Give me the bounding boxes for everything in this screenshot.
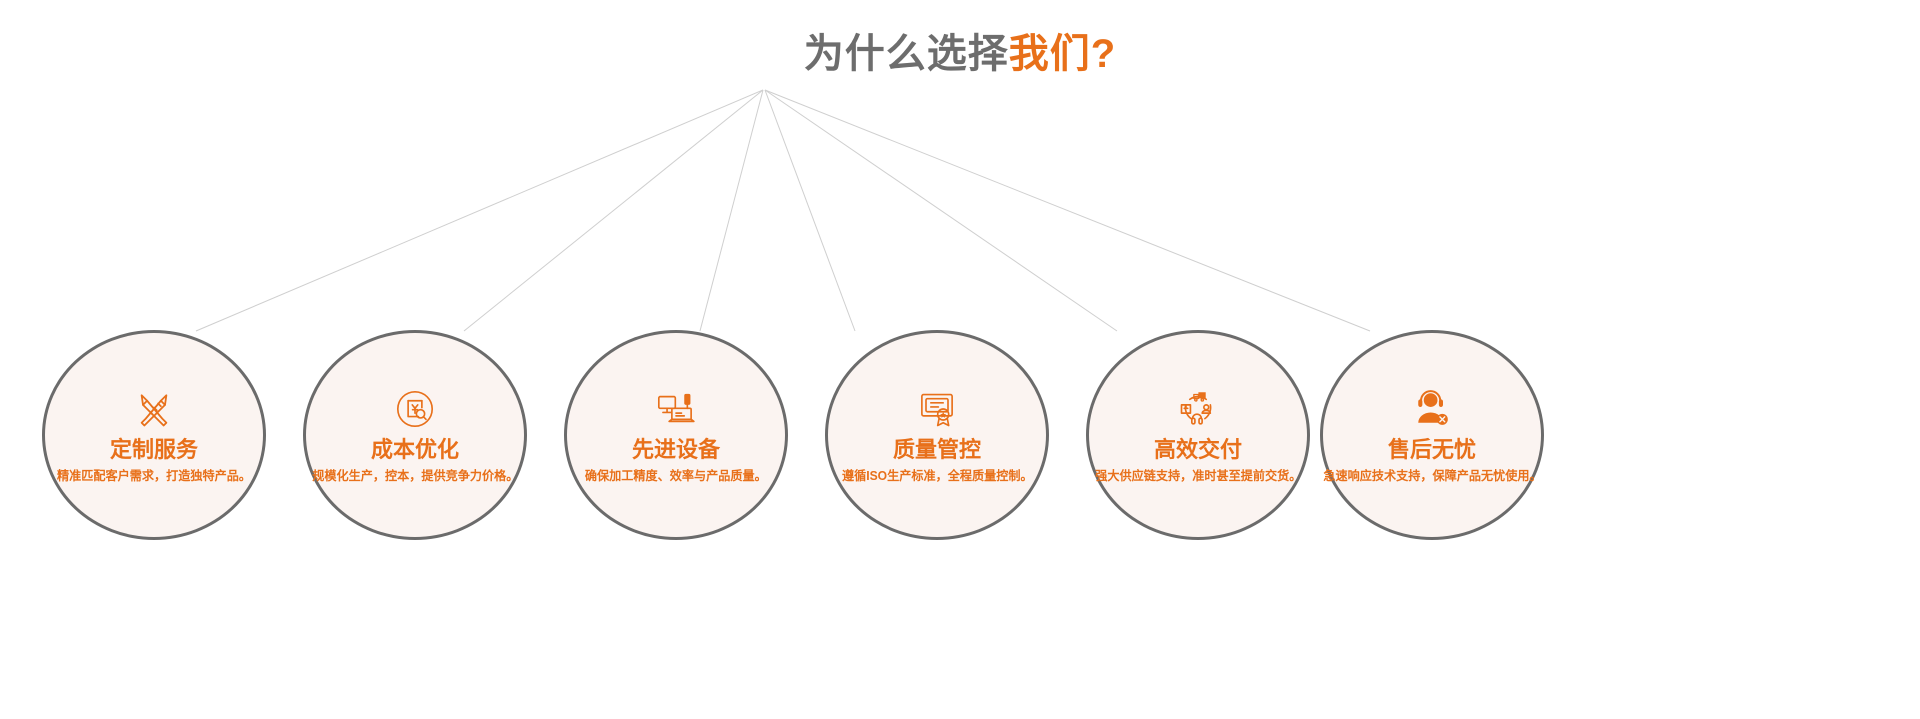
connector-line-5 bbox=[765, 90, 1117, 331]
feature-node-cost-optimization[interactable]: 成本优化 规模化生产，控本，提供竞争力价格。 bbox=[303, 330, 527, 540]
feature-desc: 强大供应链支持，准时甚至提前交货。 bbox=[1095, 469, 1301, 484]
certificate-award-icon bbox=[914, 386, 960, 432]
feature-title: 定制服务 bbox=[110, 436, 198, 464]
feature-title: 售后无忧 bbox=[1388, 436, 1476, 464]
yuan-document-search-icon bbox=[392, 386, 438, 432]
connector-line-3 bbox=[700, 90, 763, 331]
feature-desc: 精准匹配客户需求，打造独特产品。 bbox=[57, 469, 251, 484]
pencil-ruler-icon bbox=[131, 386, 177, 432]
feature-desc: 规模化生产，控本，提供竞争力价格。 bbox=[312, 469, 518, 484]
why-choose-us-diagram: 为什么选择我们? bbox=[0, 0, 1920, 719]
feature-title: 质量管控 bbox=[893, 436, 981, 464]
feature-node-advanced-equipment[interactable]: 先进设备 确保加工精度、效率与产品质量。 bbox=[564, 330, 788, 540]
feature-desc: 遵循ISO生产标准，全程质量控制。 bbox=[842, 469, 1033, 484]
feature-title: 高效交付 bbox=[1154, 436, 1242, 464]
feature-title: 先进设备 bbox=[632, 436, 720, 464]
headset-agent-icon bbox=[1409, 386, 1455, 432]
connector-line-4 bbox=[765, 90, 855, 331]
feature-title: 成本优化 bbox=[371, 436, 459, 464]
feature-circles-row: 定制服务 精准匹配客户需求，打造独特产品。 成本优化 规模化生产，控本 bbox=[0, 330, 1920, 540]
feature-node-quality-control[interactable]: 质量管控 遵循ISO生产标准，全程质量控制。 bbox=[825, 330, 1049, 540]
connector-line-1 bbox=[196, 90, 763, 331]
feature-desc: 确保加工精度、效率与产品质量。 bbox=[585, 469, 767, 484]
feature-node-after-sales-support[interactable]: 售后无忧 急速响应技术支持，保障产品无忧使用。 bbox=[1320, 330, 1544, 540]
feature-desc: 急速响应技术支持，保障产品无忧使用。 bbox=[1323, 469, 1541, 484]
computer-devices-icon bbox=[653, 386, 699, 432]
connector-line-6 bbox=[765, 90, 1370, 331]
feature-node-custom-service[interactable]: 定制服务 精准匹配客户需求，打造独特产品。 bbox=[42, 330, 266, 540]
connector-line-2 bbox=[464, 90, 763, 331]
feature-node-efficient-delivery[interactable]: 高效交付 强大供应链支持，准时甚至提前交货。 bbox=[1086, 330, 1310, 540]
supply-chain-truck-icon bbox=[1175, 386, 1221, 432]
